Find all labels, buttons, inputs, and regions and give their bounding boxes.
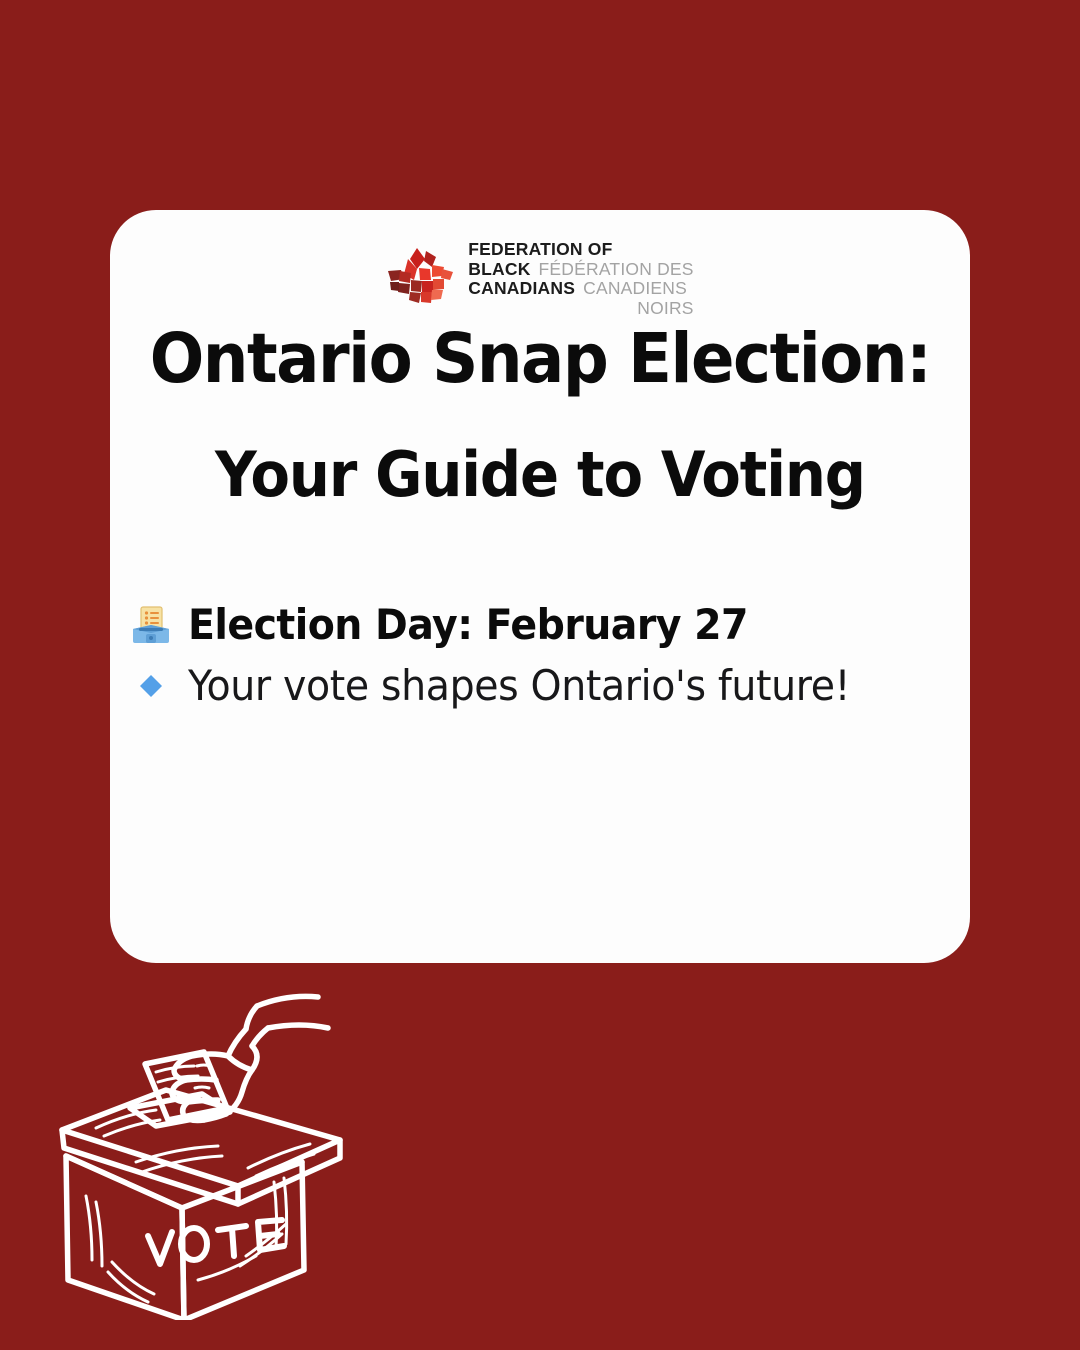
ballot-box-icon	[128, 602, 174, 648]
blue-diamond-icon	[128, 663, 174, 709]
list-item: Election Day: February 27	[128, 600, 950, 649]
page-subtitle: Your Guide to Voting	[140, 444, 940, 506]
list-item-label: Election Day: February 27	[188, 600, 748, 649]
list-item-label: Your vote shapes Ontario's future!	[188, 661, 850, 710]
logo-line-1-en: FEDERATION OF	[468, 240, 612, 259]
content-card: FEDERATION OF BLACK FÉDÉRATION DES CANAD…	[110, 210, 970, 963]
logo-line-4-fr: NOIRS	[637, 299, 693, 318]
logo-wordmark: FEDERATION OF BLACK FÉDÉRATION DES CANAD…	[468, 238, 693, 317]
logo-line-3-en: CANADIANS	[468, 279, 575, 298]
page-title: Ontario Snap Election:	[140, 325, 940, 394]
ballot-box-illustration	[52, 980, 352, 1320]
logo-line-2-en: BLACK	[468, 260, 530, 279]
bullet-list: Election Day: February 27 Your vote shap…	[128, 600, 950, 710]
logo-line-3-fr: CANADIENS	[583, 279, 687, 298]
maple-leaf-mosaic-icon	[386, 247, 454, 309]
headline-block: Ontario Snap Election: Your Guide to Vot…	[110, 325, 970, 506]
fbc-logo-lockup: FEDERATION OF BLACK FÉDÉRATION DES CANAD…	[110, 238, 970, 317]
list-item: Your vote shapes Ontario's future!	[128, 661, 950, 710]
logo-line-2-fr: FÉDÉRATION DES	[539, 260, 694, 279]
